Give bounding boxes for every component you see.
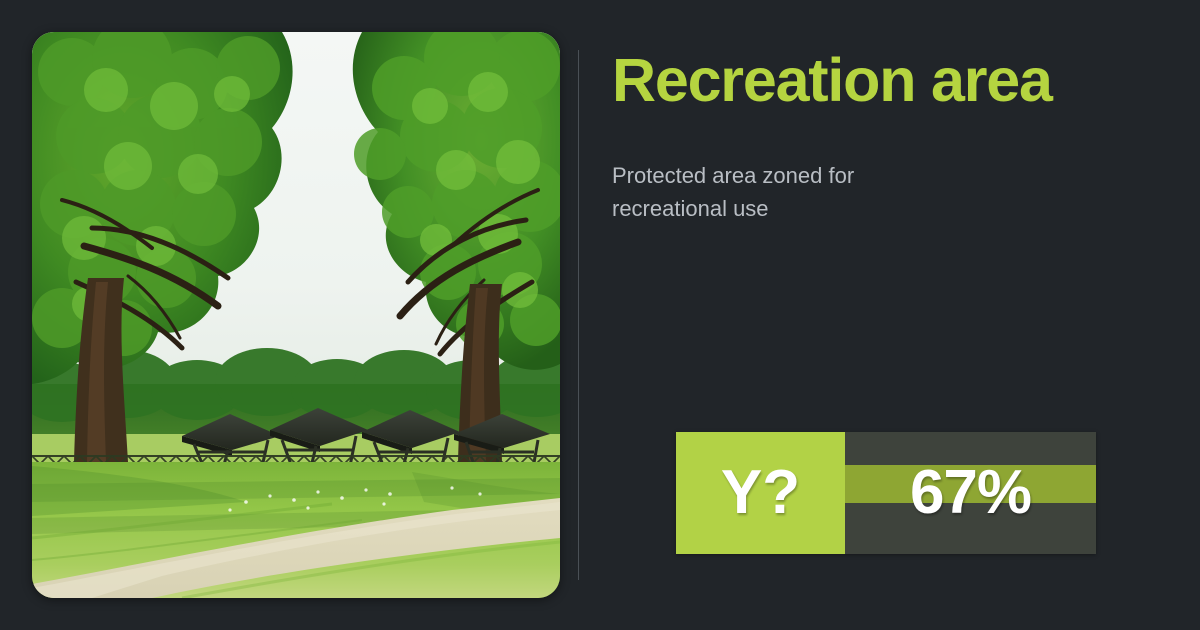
page-subtitle: Protected area zoned for recreational us… — [612, 160, 942, 225]
vertical-divider — [578, 50, 579, 580]
content-pane: Recreation area Protected area zoned for… — [612, 0, 1172, 630]
photo-illustration — [32, 32, 560, 598]
photo-pane — [32, 32, 560, 598]
page-title: Recreation area — [612, 48, 1052, 114]
recreation-area-photo — [32, 32, 560, 598]
badge-value-text: 67% — [910, 462, 1031, 524]
badge-label-block: Y? — [676, 432, 845, 554]
badge-label-text: Y? — [721, 462, 800, 524]
score-badge: Y? 67% — [676, 432, 1096, 554]
preview-card: Recreation area Protected area zoned for… — [0, 0, 1200, 630]
badge-value-block: 67% — [845, 432, 1096, 554]
